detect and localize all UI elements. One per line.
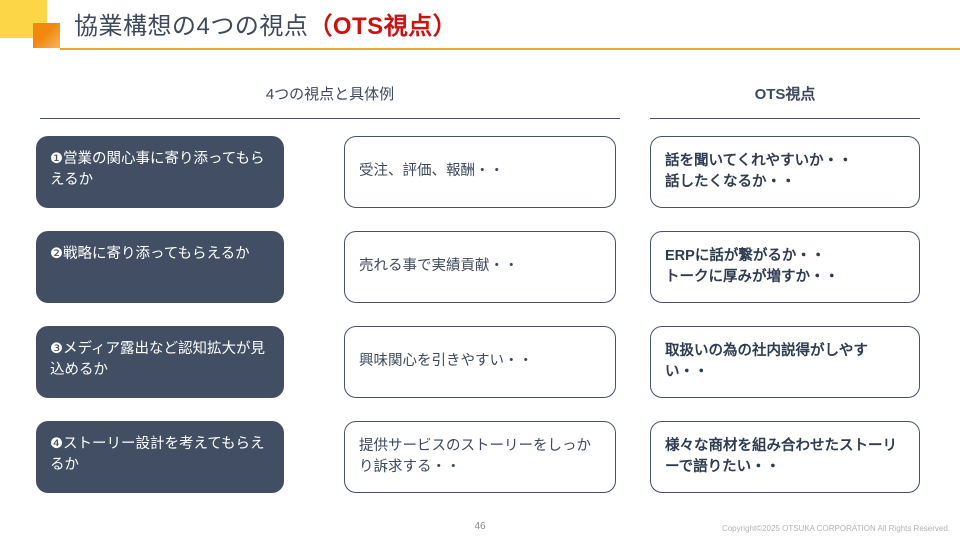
perspective-card-1-text: ❶営業の関心事に寄り添ってもらえるか: [50, 149, 270, 191]
matrix-row: ❸メディア露出など認知拡大が見込めるか 興味関心を引きやすい・・ 取扱いの為の社…: [0, 326, 960, 421]
example-card-4[interactable]: 提供サービスのストーリーをしっかり訴求する・・: [344, 421, 616, 493]
ots-card-3[interactable]: 取扱いの為の社内説得がしやすい・・: [650, 326, 920, 398]
page-title: 協業構想の4つの視点（OTS視点）: [74, 6, 457, 41]
matrix-row: ❷戦略に寄り添ってもらえるか 売れる事で実績貢献・・ ERPに話が繋がるか・・ …: [0, 231, 960, 326]
matrix-row: ❶営業の関心事に寄り添ってもらえるか 受注、評価、報酬・・ 話を聞いてくれやすい…: [0, 136, 960, 231]
ots-card-1-text: 話を聞いてくれやすいか・・ 話したくなるか・・: [665, 151, 853, 193]
column-header-perspectives: 4つの視点と具体例: [40, 83, 620, 104]
decorative-orange-block: [33, 23, 60, 48]
slide-header: 協業構想の4つの視点（OTS視点）: [0, 0, 960, 56]
example-card-4-text: 提供サービスのストーリーをしっかり訴求する・・: [359, 436, 601, 478]
ots-card-1[interactable]: 話を聞いてくれやすいか・・ 話したくなるか・・: [650, 136, 920, 208]
header-divider-line: [60, 48, 960, 50]
perspective-card-4[interactable]: ❹ストーリー設計を考えてもらえるか: [36, 421, 284, 493]
matrix-row: ❹ストーリー設計を考えてもらえるか 提供サービスのストーリーをしっかり訴求する・…: [0, 421, 960, 516]
perspective-card-3[interactable]: ❸メディア露出など認知拡大が見込めるか: [36, 326, 284, 398]
example-card-3-text: 興味関心を引きやすい・・: [359, 351, 533, 372]
perspective-card-3-text: ❸メディア露出など認知拡大が見込めるか: [50, 339, 270, 381]
column-divider-right: [650, 118, 920, 119]
page-title-accent: （OTS視点）: [308, 13, 457, 40]
column-divider-left: [40, 118, 620, 119]
ots-card-4[interactable]: 様々な商材を組み合わせたストーリーで語りたい・・: [650, 421, 920, 493]
ots-card-4-text: 様々な商材を組み合わせたストーリーで語りたい・・: [665, 436, 905, 478]
copyright-notice: Copyright©2025 OTSUKA CORPORATION All Ri…: [722, 524, 950, 533]
perspective-matrix: ❶営業の関心事に寄り添ってもらえるか 受注、評価、報酬・・ 話を聞いてくれやすい…: [0, 136, 960, 516]
perspective-card-2-text: ❷戦略に寄り添ってもらえるか: [50, 244, 250, 265]
example-card-1-text: 受注、評価、報酬・・: [359, 161, 504, 182]
column-header-ots: OTS視点: [650, 83, 920, 104]
ots-card-2-text: ERPに話が繋がるか・・ トークに厚みが増すか・・: [665, 246, 839, 288]
example-card-2-text: 売れる事で実績貢献・・: [359, 256, 519, 277]
perspective-card-2[interactable]: ❷戦略に寄り添ってもらえるか: [36, 231, 284, 303]
ots-card-2[interactable]: ERPに話が繋がるか・・ トークに厚みが増すか・・: [650, 231, 920, 303]
example-card-3[interactable]: 興味関心を引きやすい・・: [344, 326, 616, 398]
ots-card-3-text: 取扱いの為の社内説得がしやすい・・: [665, 341, 905, 383]
perspective-card-1[interactable]: ❶営業の関心事に寄り添ってもらえるか: [36, 136, 284, 208]
page-title-main: 協業構想の4つの視点: [74, 13, 308, 40]
perspective-card-4-text: ❹ストーリー設計を考えてもらえるか: [50, 434, 270, 476]
example-card-1[interactable]: 受注、評価、報酬・・: [344, 136, 616, 208]
example-card-2[interactable]: 売れる事で実績貢献・・: [344, 231, 616, 303]
